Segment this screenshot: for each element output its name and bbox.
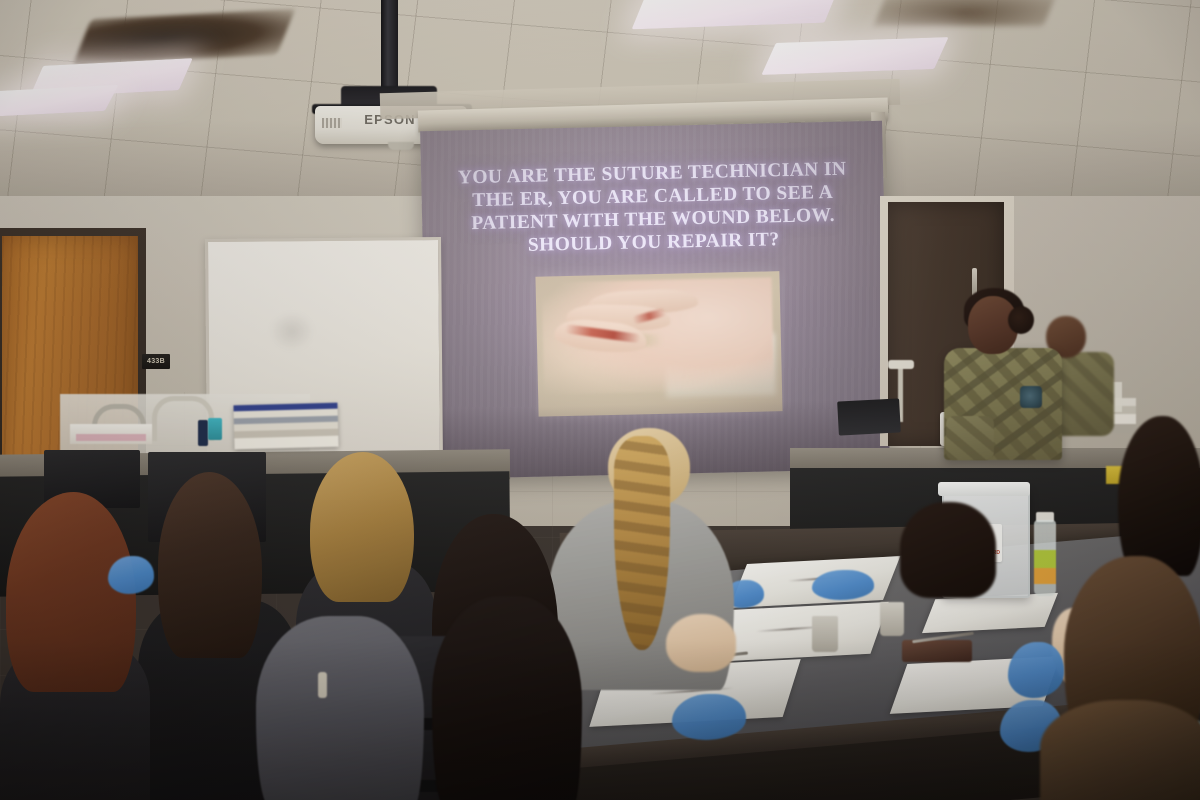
water-bottle: [1034, 520, 1056, 596]
specimen-cup: [880, 602, 904, 636]
nitrile-glove: [672, 694, 746, 740]
projector-vent-icon: [322, 118, 342, 128]
student-ponytail-hair: [158, 472, 262, 658]
student-back-right: [900, 502, 996, 598]
gloved-hand: [1008, 642, 1064, 698]
student-right-hair: [1118, 416, 1200, 576]
room-number-sign: 433B: [142, 354, 170, 369]
projector-mount-pole: [381, 0, 398, 98]
classroom-photo-scene: EPSON YOU ARE THE SUTURE TECHNICIAN IN T…: [0, 0, 1200, 800]
projector-lens: [388, 142, 414, 150]
suture-practice-pad: [922, 593, 1058, 633]
projection-screen: YOU ARE THE SUTURE TECHNICIAN IN THE ER,…: [420, 121, 890, 479]
soap-dispenser: [198, 420, 208, 446]
hoodie-drawstring: [318, 672, 327, 698]
student-blonde-hair: [310, 452, 414, 602]
student-foreground-right: [1040, 700, 1200, 800]
gloved-hand: [108, 556, 154, 594]
ceiling-light-panel: [761, 37, 948, 75]
ceiling-opening-right: [874, 0, 1057, 26]
student-gray-hoodie: [256, 616, 424, 800]
instructor-arm: [946, 416, 994, 460]
whiteboard-smudge: [269, 311, 315, 351]
student-red-hair: [6, 492, 136, 692]
laptop: [837, 398, 901, 435]
specimen-cup: [812, 616, 838, 652]
iv-pole-top: [888, 360, 914, 369]
room-number-text: 433B: [147, 358, 165, 365]
student-center-arm: [666, 614, 736, 672]
binder-stack: [233, 403, 338, 450]
teal-cup: [208, 418, 222, 440]
student-foreground-dark-hair: [432, 596, 582, 800]
instructor-hair-bun: [1008, 306, 1034, 334]
uniform-shoulder-patch: [1020, 386, 1042, 408]
nitrile-glove: [812, 570, 874, 600]
supply-tray-liner: [76, 434, 146, 441]
instrument-tray: [902, 640, 972, 662]
sharps-container-lid: [938, 482, 1030, 496]
